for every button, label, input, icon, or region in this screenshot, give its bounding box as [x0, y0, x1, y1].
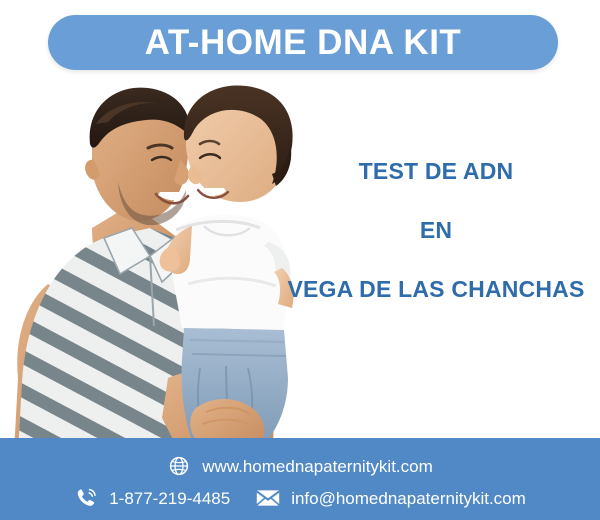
globe-icon — [167, 455, 191, 477]
footer-row-website: www.homednapaternitykit.com — [0, 455, 600, 477]
headline-line-1: TEST DE ADN — [278, 160, 594, 183]
phone-text: 1-877-219-4485 — [109, 490, 230, 507]
email-text: info@homednapaternitykit.com — [291, 490, 526, 507]
promo-banner: AT-HOME DNA KIT — [0, 0, 600, 520]
footer-contact-bar: www.homednapaternitykit.com 1-877-219-44… — [0, 438, 600, 520]
header-pill: AT-HOME DNA KIT — [48, 15, 558, 70]
contact-website[interactable]: www.homednapaternitykit.com — [167, 455, 433, 477]
phone-icon — [74, 487, 98, 509]
envelope-icon — [256, 487, 280, 509]
headline-line-3: VEGA DE LAS CHANCHAS — [278, 278, 594, 301]
website-text: www.homednapaternitykit.com — [202, 458, 433, 475]
contact-email[interactable]: info@homednapaternitykit.com — [256, 487, 526, 509]
contact-phone[interactable]: 1-877-219-4485 — [74, 487, 230, 509]
headline-line-2: EN — [278, 219, 594, 242]
page-title: AT-HOME DNA KIT — [145, 25, 462, 60]
headline-block: TEST DE ADN EN VEGA DE LAS CHANCHAS — [278, 160, 594, 301]
footer-row-phone-email: 1-877-219-4485 info@homednapaternitykit.… — [0, 487, 600, 509]
